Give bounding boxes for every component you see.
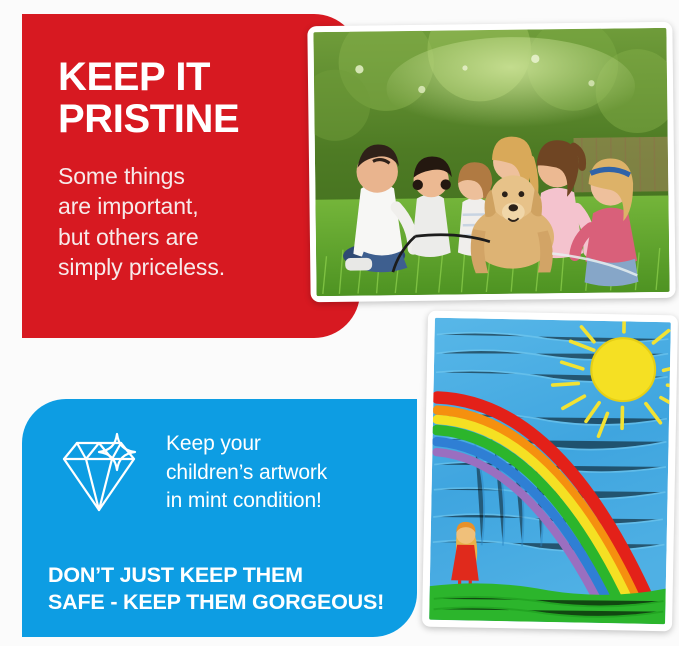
red-panel-content: KEEP IT PRISTINE Some things are importa… [58,56,326,282]
family-photo-card [307,22,675,302]
diamond-sparkle-icon [46,421,150,525]
blue-panel-top-row: Keep your children’s artwork in mint con… [46,421,327,525]
red-panel-body: Some things are important, but others ar… [58,161,326,282]
red-panel-headline: KEEP IT PRISTINE [58,56,326,141]
poster-canvas: KEEP IT PRISTINE Some things are importa… [0,0,679,646]
blue-panel-headline: DON’T JUST KEEP THEM SAFE - KEEP THEM GO… [48,562,384,617]
blue-panel-mid-text: Keep your children’s artwork in mint con… [166,430,327,515]
childrens-artwork-card [422,311,678,632]
blue-panel: Keep your children’s artwork in mint con… [22,399,417,637]
childrens-artwork-image [429,318,671,624]
family-photo-image [313,28,669,296]
